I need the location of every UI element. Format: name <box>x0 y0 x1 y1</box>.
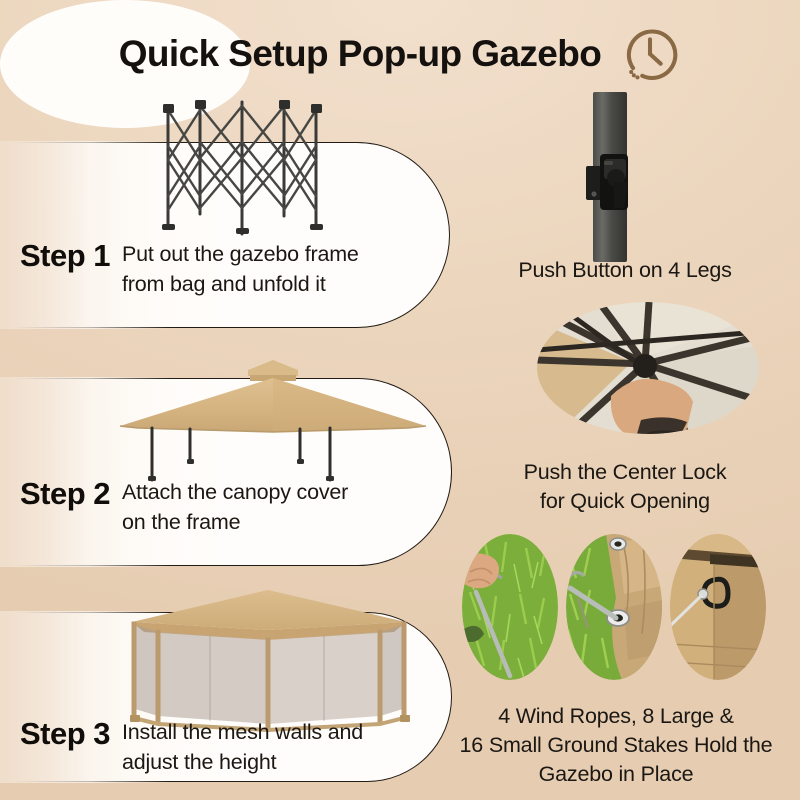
stakes-caption: 4 Wind Ropes, 8 Large & 16 Small Ground … <box>440 702 792 790</box>
step-3-description-line2: adjust the height <box>122 748 363 778</box>
stakes-caption-line1: 4 Wind Ropes, 8 Large & <box>440 702 792 731</box>
stakes-caption-line2: 16 Small Ground Stakes Hold the <box>440 731 792 760</box>
step-1-text: Step 1 Put out the gazebo frame from bag… <box>20 240 359 299</box>
step-2-text: Step 2 Attach the canopy cover on the fr… <box>20 478 348 537</box>
header: Quick Setup Pop-up Gazebo <box>0 18 800 90</box>
gazebo-mesh-walls-illustration <box>118 588 428 734</box>
folded-gazebo-frame-illustration <box>150 88 335 240</box>
center-lock-caption: Push the Center Lock for Quick Opening <box>460 458 790 516</box>
center-lock-photo <box>537 302 759 434</box>
push-button-caption: Push Button on 4 Legs <box>460 256 790 285</box>
gazebo-canopy-illustration <box>108 358 438 486</box>
stakes-caption-line3: Gazebo in Place <box>440 760 792 789</box>
step-1-description-line2: from bag and unfold it <box>122 270 359 300</box>
wind-rope-clip-photo <box>670 534 766 680</box>
stake-in-grass-photo <box>462 534 558 680</box>
step-1-description-line1: Put out the gazebo frame <box>122 240 359 270</box>
infographic-page: Quick Setup Pop-up Gazebo <box>0 0 800 800</box>
step-3-text: Step 3 Install the mesh walls and adjust… <box>20 718 363 777</box>
push-button-photo <box>584 152 640 218</box>
step-2-description: Attach the canopy cover on the frame <box>122 478 348 537</box>
step-1-description: Put out the gazebo frame from bag and un… <box>122 240 359 299</box>
step-1-label: Step 1 <box>20 240 110 273</box>
step-3-label: Step 3 <box>20 718 110 751</box>
page-title: Quick Setup Pop-up Gazebo <box>119 33 601 75</box>
step-2-label: Step 2 <box>20 478 110 511</box>
clock-icon <box>619 23 681 85</box>
step-2-description-line2: on the frame <box>122 508 348 538</box>
step-3-description: Install the mesh walls and adjust the he… <box>122 718 363 777</box>
center-lock-caption-line1: Push the Center Lock <box>460 458 790 487</box>
center-lock-caption-line2: for Quick Opening <box>460 487 790 516</box>
step-3-description-line1: Install the mesh walls and <box>122 718 363 748</box>
step-2-description-line1: Attach the canopy cover <box>122 478 348 508</box>
stake-through-grommet-photo <box>566 534 662 680</box>
